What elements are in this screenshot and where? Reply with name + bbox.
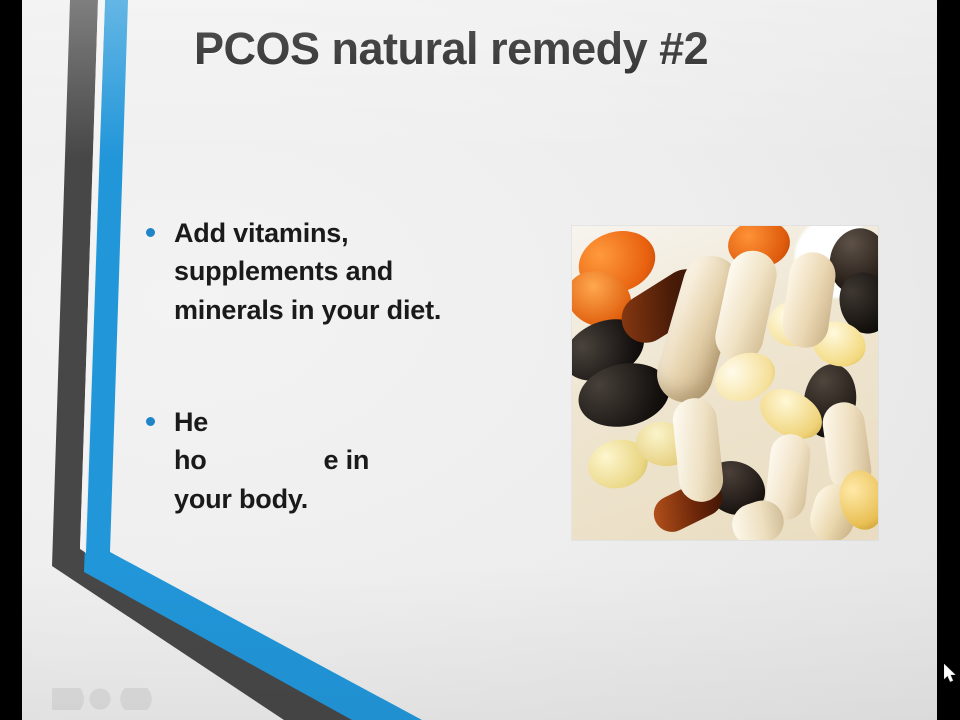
pill-tan-4 <box>671 396 726 504</box>
bullet-1-line-3: minerals in your diet. <box>174 291 540 329</box>
bullet-2-faded-gap <box>214 445 316 475</box>
letterbox-bar-left <box>0 0 22 720</box>
bullet-2-fragment-1: He <box>174 407 208 437</box>
transition-ghost-artifact <box>52 688 172 710</box>
list-item: Add vitamins, supplements and minerals i… <box>140 214 540 329</box>
bullet-2-line-3: your body. <box>174 480 540 518</box>
bullet-1-line-1: Add vitamins, <box>174 214 540 252</box>
video-player-frame: PCOS natural remedy #2 Add vitamins, sup… <box>0 0 960 720</box>
bullet-list: Add vitamins, supplements and minerals i… <box>140 214 540 518</box>
bullet-2-line-1: He <box>174 403 540 441</box>
bullet-1-text: Add vitamins, supplements and minerals i… <box>174 214 540 329</box>
mouse-cursor-icon <box>944 664 958 689</box>
vitamins-photo <box>572 226 878 540</box>
page-title: PCOS natural remedy #2 <box>194 25 894 72</box>
list-item: He ho e in your body. <box>140 403 540 518</box>
bullet-2-text: He ho e in your body. <box>174 403 540 518</box>
bullet-dot-icon <box>146 228 155 237</box>
bullet-dot-icon <box>146 417 155 426</box>
bullet-2-fragment-2: ho <box>174 445 207 475</box>
letterbox-bar-right <box>937 0 960 720</box>
pill-photo-canvas <box>572 226 878 540</box>
bullet-2-line-2: ho e in <box>174 441 540 479</box>
decor-stripe-sliver <box>80 0 105 553</box>
presentation-slide: PCOS natural remedy #2 Add vitamins, sup… <box>22 0 937 720</box>
bullet-2-fragment-3: e in <box>323 445 369 475</box>
bullet-1-line-2: supplements and <box>174 252 540 290</box>
bullet-2-fragment-4: your body. <box>174 484 308 514</box>
